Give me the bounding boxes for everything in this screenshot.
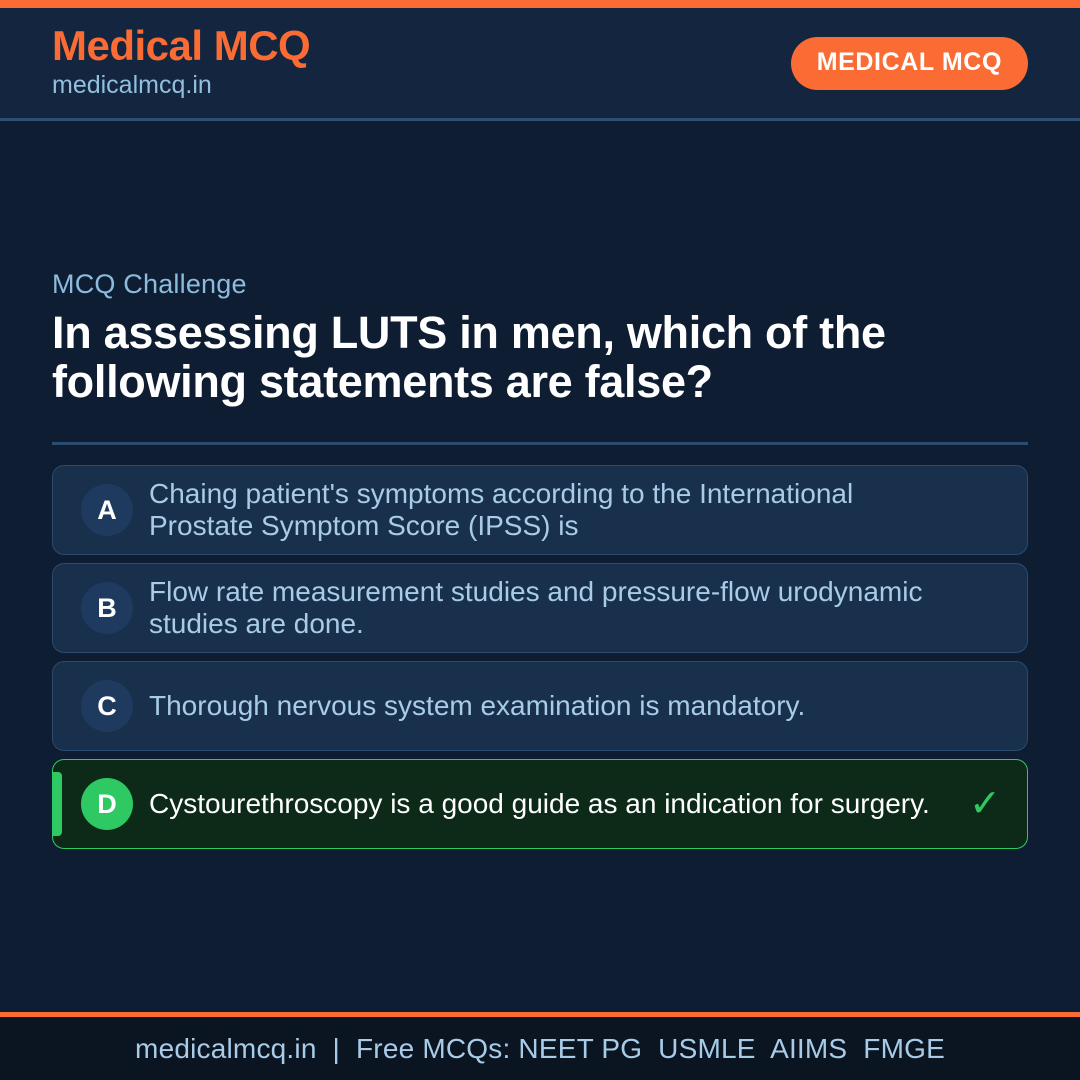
top-accent-bar [0, 0, 1080, 8]
option-text: Cystourethroscopy is a good guide as an … [149, 788, 963, 820]
option-letter-badge: A [81, 484, 133, 536]
page-footer: medicalmcq.in | Free MCQs: NEET PG USMLE… [0, 1012, 1080, 1080]
option-text: Thorough nervous system examination is m… [149, 690, 963, 722]
brand-subtitle: medicalmcq.in [52, 70, 310, 101]
correct-accent-bar [53, 772, 62, 836]
option-text: Chaing patient's symptoms according to t… [149, 478, 963, 541]
answer-option-d[interactable]: DCystourethroscopy is a good guide as an… [52, 759, 1028, 849]
brand-block: Medical MCQ medicalmcq.in [52, 25, 310, 101]
content-area: MCQ Challenge In assessing LUTS in men, … [0, 121, 1080, 1012]
question-divider [52, 442, 1028, 445]
mcq-card: Medical MCQ medicalmcq.in MEDICAL MCQ MC… [0, 0, 1080, 1080]
answer-options-list: AChaing patient's symptoms according to … [52, 465, 1028, 849]
option-text: Flow rate measurement studies and pressu… [149, 576, 963, 639]
correct-check-icon: ✓ [963, 785, 1007, 823]
page-header: Medical MCQ medicalmcq.in MEDICAL MCQ [0, 8, 1080, 121]
answer-option-c[interactable]: CThorough nervous system examination is … [52, 661, 1028, 751]
question-text: In assessing LUTS in men, which of the f… [52, 308, 1002, 406]
option-letter-badge: B [81, 582, 133, 634]
brand-title: Medical MCQ [52, 25, 310, 68]
option-letter-badge: D [81, 778, 133, 830]
question-block: MCQ Challenge In assessing LUTS in men, … [52, 269, 1028, 406]
option-letter-badge: C [81, 680, 133, 732]
brand-badge: MEDICAL MCQ [791, 37, 1028, 90]
section-kicker: MCQ Challenge [52, 269, 1028, 300]
answer-option-a[interactable]: AChaing patient's symptoms according to … [52, 465, 1028, 555]
answer-option-b[interactable]: BFlow rate measurement studies and press… [52, 563, 1028, 653]
footer-text: medicalmcq.in | Free MCQs: NEET PG USMLE… [135, 1033, 945, 1065]
